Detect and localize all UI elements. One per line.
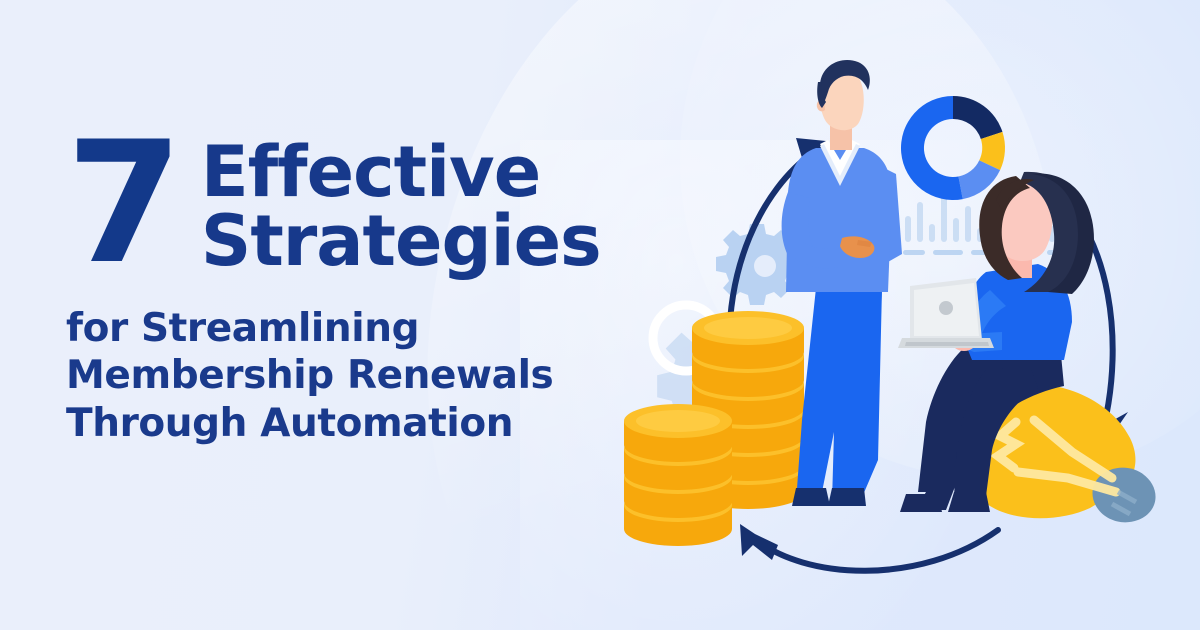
subheadline: for Streamlining Membership Renewals Thr… — [66, 305, 626, 448]
headline-row: 7 Effective Strategies — [66, 120, 626, 281]
headline-number: 7 — [66, 120, 179, 281]
donut-chart — [901, 96, 1005, 200]
banner-canvas: 7 Effective Strategies for Streamlining … — [0, 0, 1200, 630]
subheadline-line-3: Through Automation — [66, 400, 626, 448]
arrow-head-left — [740, 524, 778, 560]
subheadline-line-2: Membership Renewals — [66, 352, 626, 400]
subheadline-line-1: for Streamlining — [66, 305, 626, 353]
coin-stack-short — [624, 404, 732, 546]
text-block: 7 Effective Strategies for Streamlining … — [66, 120, 626, 447]
illustration — [620, 40, 1200, 610]
headline-line-2: Strategies — [201, 207, 601, 276]
headline: Effective Strategies — [201, 120, 601, 275]
arc-arrow-bottom-left-icon — [754, 530, 998, 571]
